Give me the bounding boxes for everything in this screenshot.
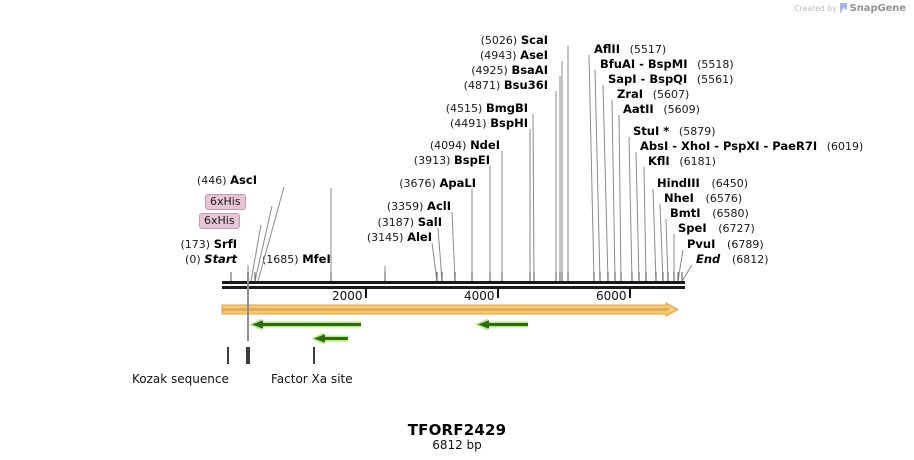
backbone-top-line	[222, 281, 685, 284]
orf-feature-arrow[interactable]	[222, 303, 678, 316]
ruler-label-2000: 2000	[332, 289, 363, 303]
page-subtitle: 6812 bp	[0, 438, 914, 452]
primer-arrow-2[interactable]	[311, 332, 348, 345]
ruler-tick-4000	[497, 289, 499, 298]
ruler-tick-6000	[629, 289, 631, 298]
primer-arrow-3[interactable]	[475, 318, 528, 331]
caption-kozak-sequence[interactable]: Kozak sequence	[132, 372, 229, 386]
ruler-tick-2000	[365, 289, 367, 298]
bottom-tick-kozak[interactable]	[227, 347, 229, 364]
ruler-label-6000: 6000	[596, 289, 627, 303]
sequence-map-canvas: Created by SnapGene (5026) ScaI (4943) A…	[0, 0, 914, 460]
page-title: TFORF2429	[0, 421, 914, 439]
caption-factor-xa-site[interactable]: Factor Xa site	[271, 372, 353, 386]
ruler-label-4000: 4000	[464, 289, 495, 303]
primer-arrow-1[interactable]	[249, 318, 361, 331]
bottom-tick-factor-xa[interactable]	[313, 347, 315, 364]
bottom-tick-start-codon[interactable]	[246, 347, 250, 364]
restriction-site-ticks	[0, 0, 914, 300]
cursor-guide-line	[247, 272, 249, 341]
